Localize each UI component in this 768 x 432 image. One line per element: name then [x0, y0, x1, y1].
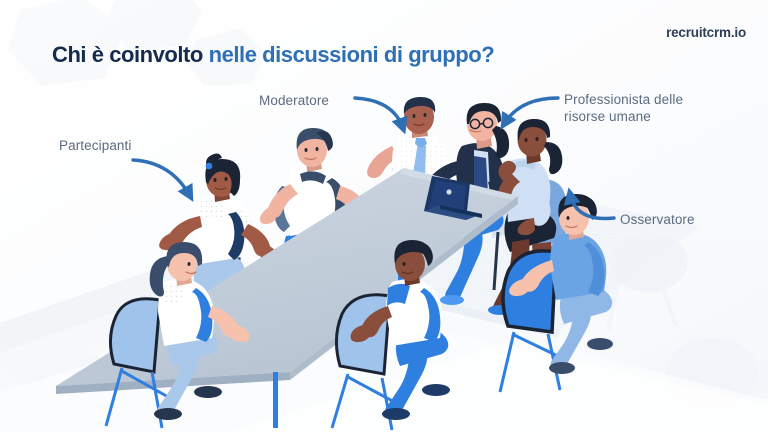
page-title: Chi è coinvolto nelle discussioni di gru… — [52, 42, 494, 68]
arrow-osservatore — [570, 194, 614, 219]
callout-label-osservatore: Osservatore — [620, 211, 695, 228]
slide-canvas: recruitcrm.io Chi è coinvolto nelle disc… — [0, 0, 768, 432]
brand-logo-text: recruitcrm.io — [666, 25, 746, 40]
arrow-hr — [504, 98, 558, 124]
page-title-part-2: nelle discussioni di gruppo? — [209, 42, 495, 67]
callout-label-partecipanti: Partecipanti — [59, 137, 132, 154]
callout-label-moderatore: Moderatore — [259, 92, 329, 109]
arrow-partecipanti — [133, 160, 190, 196]
callout-label-hr-professional: Professionista delle risorse umane — [564, 91, 683, 126]
arrow-moderatore — [355, 98, 403, 128]
page-title-part-1: Chi è coinvolto — [52, 42, 209, 67]
